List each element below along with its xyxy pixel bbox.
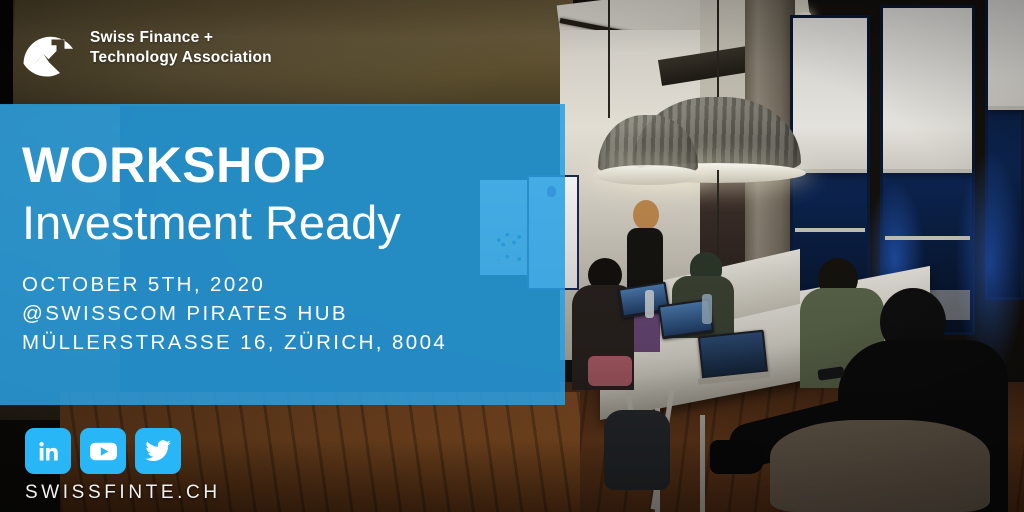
lamp-cord [717,170,719,260]
brand-line-2: Technology Association [90,48,272,68]
twitter-icon[interactable] [135,428,181,474]
lamp-cord [608,0,610,118]
website-url[interactable]: SWISSFINTE.CH [25,482,221,504]
lamp-light [595,165,701,185]
sfta-dome-arrow-logo-icon [18,18,78,78]
roller-blind [988,0,1024,110]
lounge-chair [770,420,990,512]
backpack [604,410,670,490]
lamp-cord [717,0,719,100]
left-edge-strip [0,0,13,105]
roller-blind [793,18,867,173]
event-date: OCTOBER 5TH, 2020 [22,270,552,299]
water-bottle [645,290,654,318]
table-leg [700,415,705,512]
roller-blind [883,8,972,173]
person-jacket [588,356,632,386]
event-address: MÜLLERSTRASSE 16, ZÜRICH, 8004 [22,328,552,357]
brand-line-1: Swiss Finance + [90,28,272,48]
brand-wordmark: Swiss Finance + Technology Association [90,28,272,68]
window-sash [885,236,970,240]
event-venue: @SWISSCOM PIRATES HUB [22,299,552,328]
event-details: OCTOBER 5TH, 2020 @SWISSCOM PIRATES HUB … [22,270,552,357]
page-title: WORKSHOP [22,140,552,191]
brand-logo[interactable]: Swiss Finance + Technology Association [18,18,272,78]
youtube-icon[interactable] [80,428,126,474]
linkedin-icon[interactable] [25,428,71,474]
social-links [25,428,181,474]
event-content: WORKSHOP Investment Ready OCTOBER 5TH, 2… [22,140,552,357]
person-shoe [710,440,764,474]
event-banner: Swiss Finance + Technology Association W… [0,0,1024,512]
window-sash [795,228,865,232]
water-bottle [702,294,712,324]
event-subtitle: Investment Ready [22,197,552,250]
person-presenter-head [633,200,659,230]
